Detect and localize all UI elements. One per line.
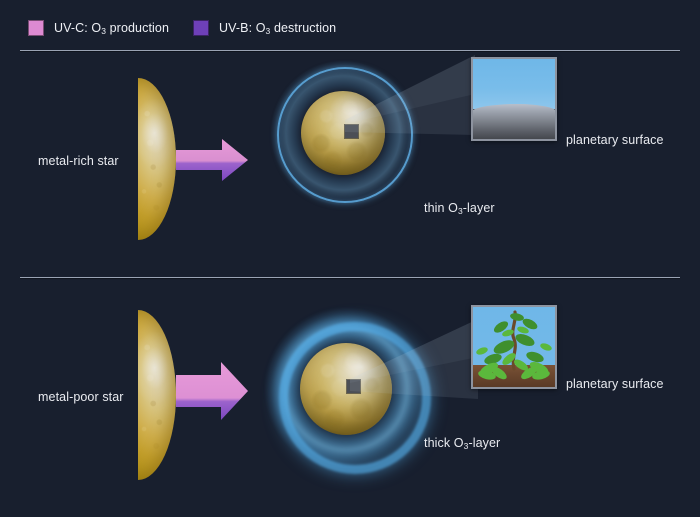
- star-label-metal-poor: metal-poor star: [38, 390, 124, 404]
- subscript-3: 3: [458, 206, 463, 216]
- star-disc: [138, 78, 176, 240]
- star-metal-rich: [138, 78, 176, 240]
- subscript-3: 3: [101, 26, 106, 36]
- subscript-3: 3: [464, 441, 469, 451]
- star-metal-poor: [138, 310, 176, 480]
- legend-item-uv-b: UV-B: O3 destruction: [193, 20, 336, 36]
- surface-label-metal-poor: planetary surface: [566, 377, 664, 391]
- star-disc: [138, 310, 176, 480]
- legend-label-uv-b: UV-B: O3 destruction: [219, 21, 336, 35]
- star-surface-texture: [138, 78, 176, 240]
- surface-inset-metal-rich: [471, 57, 557, 141]
- row-metal-poor: metal-poor star: [0, 277, 700, 517]
- uv-arrow-metal-rich: [176, 138, 248, 182]
- surface-scene-vegetation: [473, 307, 555, 387]
- ground-rocky: [473, 104, 555, 139]
- surface-label-metal-rich: planetary surface: [566, 133, 664, 147]
- subscript-3: 3: [266, 26, 271, 36]
- legend-swatch-uv-b: [193, 20, 209, 36]
- figure-canvas: UV-C: O3 production UV-B: O3 destruction…: [0, 0, 700, 517]
- legend-item-uv-c: UV-C: O3 production: [28, 20, 169, 36]
- ozone-label-metal-rich: thin O3-layer: [424, 201, 495, 215]
- zoom-cone-metal-rich: [345, 50, 475, 200]
- legend: UV-C: O3 production UV-B: O3 destruction: [0, 0, 700, 50]
- sky: [473, 59, 555, 109]
- row-metal-rich: metal-rich star: [0, 50, 700, 277]
- star-label-metal-rich: metal-rich star: [38, 154, 119, 168]
- star-surface-texture: [138, 310, 176, 480]
- surface-inset-metal-poor: [471, 305, 557, 389]
- surface-scene-barren: [473, 59, 555, 139]
- ozone-label-metal-poor: thick O3-layer: [424, 436, 500, 450]
- zoom-cone-metal-poor: [350, 307, 478, 437]
- legend-swatch-uv-c: [28, 20, 44, 36]
- legend-label-uv-c: UV-C: O3 production: [54, 21, 169, 35]
- plants-illustration: [473, 307, 555, 387]
- uv-arrow-metal-poor: [176, 361, 248, 421]
